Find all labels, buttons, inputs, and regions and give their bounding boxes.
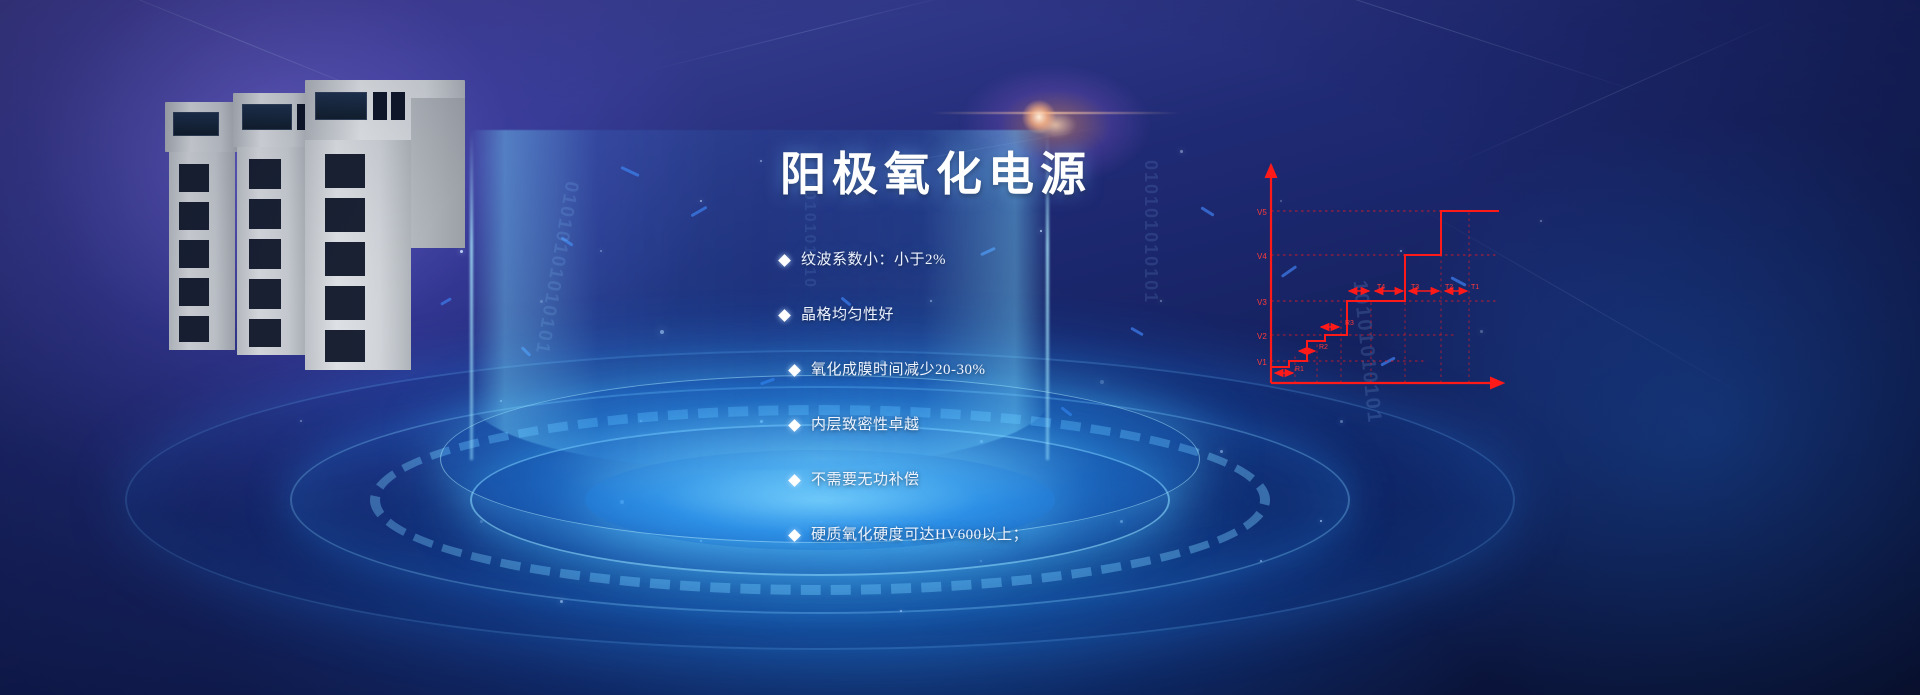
particle-dot	[1540, 220, 1542, 222]
voltage-ramp-chart: V5 V4 V3 V2 V1 R1 R2 R3 T4 T3 T2 T1	[1255, 155, 1515, 395]
diamond-bullet-icon	[788, 419, 801, 432]
feature-item-label: 晶格均匀性好	[801, 308, 894, 323]
chart-segment-label: R2	[1319, 344, 1328, 351]
diamond-bullet-icon	[788, 529, 801, 542]
lens-flare-core	[1022, 100, 1056, 134]
feature-item-label: 硬质氧化硬度可达HV600以上；	[811, 528, 1028, 543]
chart-y-tick-label: V2	[1257, 332, 1267, 341]
feature-item-label: 内层致密性卓越	[811, 418, 920, 433]
feature-item-label: 氧化成膜时间减少20-30%	[811, 363, 986, 378]
chart-y-tick-label: V3	[1257, 298, 1267, 307]
cabinet-back	[165, 102, 239, 350]
cabinet-middle	[233, 93, 313, 355]
chart-y-tick-label: V4	[1257, 252, 1267, 261]
chart-segment-label: T3	[1411, 284, 1419, 291]
cabinet-front	[305, 80, 465, 370]
feature-item-density: 内层致密性卓越	[780, 418, 1340, 433]
chart-segment-label: R3	[1345, 320, 1354, 327]
chart-segment-label: R1	[1295, 366, 1304, 373]
diamond-bullet-icon	[788, 364, 801, 377]
feature-item-hardness: 硬质氧化硬度可达HV600以上；	[780, 528, 1340, 543]
power-supply-cabinets	[165, 80, 495, 380]
diamond-bullet-icon	[778, 309, 791, 322]
feature-item-label: 不需要无功补偿	[811, 473, 920, 488]
chart-y-tick-label: V1	[1257, 358, 1267, 367]
chart-segment-label: T1	[1471, 284, 1479, 291]
chart-segment-label: T2	[1445, 284, 1453, 291]
chart-y-tick-label: V5	[1257, 208, 1267, 217]
diamond-bullet-icon	[788, 474, 801, 487]
feature-item-no-pfc: 不需要无功补偿	[780, 473, 1340, 488]
diamond-bullet-icon	[778, 254, 791, 267]
product-banner: 01010101010101 1010101010 010101010101 1…	[0, 0, 1920, 695]
feature-item-label: 纹波系数小：小于2%	[801, 253, 946, 268]
chart-segment-label: T4	[1377, 284, 1385, 291]
